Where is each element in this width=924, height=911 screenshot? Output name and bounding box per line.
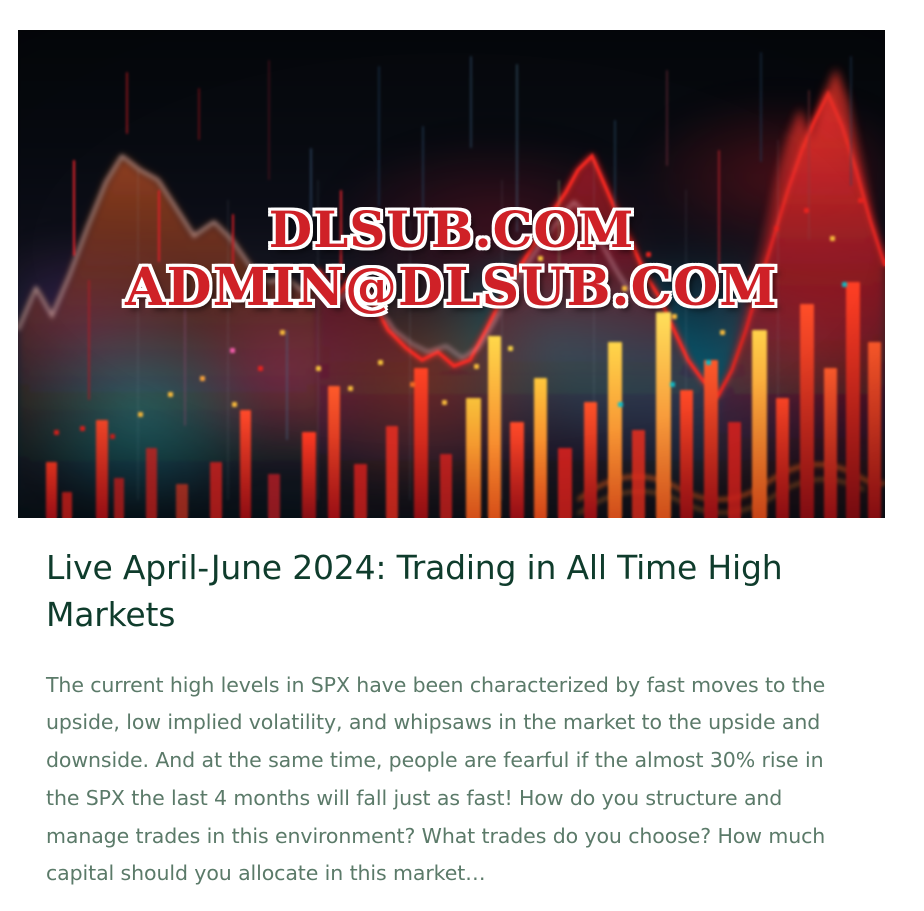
post-title[interactable]: Live April-June 2024: Trading in All Tim… <box>46 545 858 639</box>
post-featured-image[interactable]: DLSUB.COM ADMIN@DLSUB.COM <box>18 30 885 518</box>
post-excerpt: The current high levels in SPX have been… <box>46 639 858 893</box>
artwork-data-points <box>18 30 885 518</box>
post-content: Live April-June 2024: Trading in All Tim… <box>46 545 858 893</box>
market-chart-artwork <box>18 30 885 518</box>
post-card: DLSUB.COM ADMIN@DLSUB.COM Live April-Jun… <box>0 0 924 911</box>
